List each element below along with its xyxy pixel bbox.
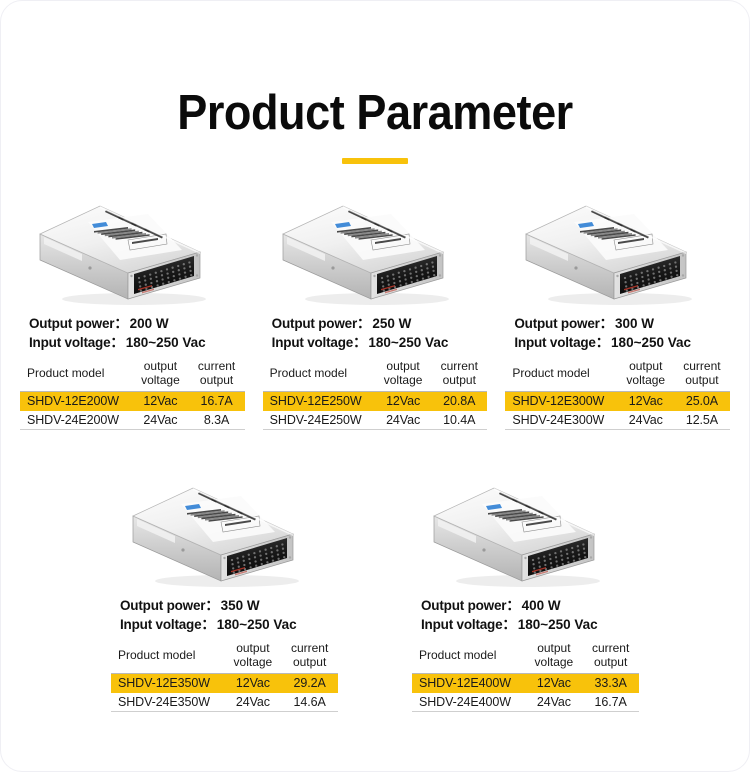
product-card-400w: Output power：400 W Input voltage：180~250… [403,468,648,712]
cell-output-voltage: 12Vac [132,392,188,411]
parameter-table: Product model output voltage current out… [111,637,338,712]
header-output-voltage: output voltage [132,355,188,392]
page-header: Product Parameter [1,1,749,164]
header-product-model: Product model [263,355,375,392]
cell-current-output: 25.0A [674,392,730,411]
product-row-top: Output power：200 W Input voltage：180~250… [1,186,749,430]
cell-product-model: SHDV-24E250W [263,411,375,430]
cell-current-output: 10.4A [431,411,487,430]
header-current-output-line1: current [674,359,730,373]
spec-input-voltage-label: Input voltage： [120,617,215,632]
header-current-output-line2: output [189,373,245,387]
spec-input-voltage: Input voltage：180~250 Vac [505,333,730,352]
header-current-output-line2: output [431,373,487,387]
header-current-output-line1: current [189,359,245,373]
spec-input-voltage-value: 180~250 Vac [611,335,691,350]
table-header-row: Product model output voltage current out… [20,355,245,392]
spec-input-voltage-value: 180~250 Vac [518,617,598,632]
header-output-voltage-line1: output [225,641,282,655]
power-supply-unit-300w [505,186,730,308]
spec-input-voltage-label: Input voltage： [514,335,609,350]
spec-input-voltage: Input voltage：180~250 Vac [20,333,245,352]
header-current-output-line2: output [674,373,730,387]
header-output-voltage: output voltage [618,355,674,392]
header-output-voltage-line1: output [132,359,188,373]
power-supply-unit-250w [263,186,488,308]
cell-current-output: 29.2A [281,674,338,693]
table-row: SHDV-12E350W12Vac29.2A [111,674,338,693]
spec-output-power-value: 200 W [130,316,169,331]
header-current-output-line2: output [582,655,639,669]
power-supply-unit-icon [125,472,325,590]
header-current-output: current output [674,355,730,392]
spec-output-power-value: 300 W [615,316,654,331]
table-body: SHDV-12E200W12Vac16.7ASHDV-24E200W24Vac8… [20,392,245,430]
spec-input-voltage: Input voltage：180~250 Vac [263,333,488,352]
header-output-voltage-line1: output [618,359,674,373]
cell-output-voltage: 12Vac [375,392,431,411]
table-row: SHDV-24E200W24Vac8.3A [20,411,245,430]
spec-output-power-value: 250 W [372,316,411,331]
power-supply-unit-icon [32,190,232,308]
header-output-voltage-line2: voltage [132,373,188,387]
header-current-output-line1: current [431,359,487,373]
cell-output-voltage: 24Vac [526,693,583,712]
power-supply-unit-icon [518,190,718,308]
product-card-250w: Output power：250 W Input voltage：180~250… [254,186,497,430]
spec-output-power: Output power：350 W [111,596,338,615]
table-header-row: Product model output voltage current out… [412,637,639,674]
cell-current-output: 12.5A [674,411,730,430]
table-body: SHDV-12E250W12Vac20.8ASHDV-24E250W24Vac1… [263,392,488,430]
title-underline-rule [342,158,408,164]
spec-output-power-value: 350 W [221,598,260,613]
parameter-table: Product model output voltage current out… [263,355,488,430]
cell-output-voltage: 24Vac [132,411,188,430]
power-supply-unit-350w [111,468,338,590]
header-current-output: current output [582,637,639,674]
spec-input-voltage-label: Input voltage： [29,335,124,350]
header-output-voltage-line2: voltage [526,655,583,669]
cell-output-voltage: 12Vac [526,674,583,693]
product-card-350w: Output power：350 W Input voltage：180~250… [102,468,347,712]
header-current-output-line2: output [281,655,338,669]
table-header-row: Product model output voltage current out… [111,637,338,674]
header-output-voltage-line2: voltage [375,373,431,387]
table-row: SHDV-24E350W24Vac14.6A [111,693,338,712]
spec-input-voltage: Input voltage：180~250 Vac [111,615,338,634]
product-parameter-page: Product Parameter Output power：200 W Inp… [0,0,750,772]
cell-product-model: SHDV-24E400W [412,693,526,712]
parameter-table: Product model output voltage current out… [20,355,245,430]
table-row: SHDV-12E250W12Vac20.8A [263,392,488,411]
cell-current-output: 33.3A [582,674,639,693]
cell-product-model: SHDV-12E350W [111,674,225,693]
cell-output-voltage: 12Vac [225,674,282,693]
power-supply-unit-icon [275,190,475,308]
header-output-voltage: output voltage [526,637,583,674]
cell-product-model: SHDV-24E350W [111,693,225,712]
cell-product-model: SHDV-12E250W [263,392,375,411]
power-supply-unit-icon [426,472,626,590]
psu-render [125,472,325,590]
table-body: SHDV-12E300W12Vac25.0ASHDV-24E300W24Vac1… [505,392,730,430]
table-body: SHDV-12E350W12Vac29.2ASHDV-24E350W24Vac1… [111,674,338,712]
header-product-model: Product model [111,637,225,674]
parameter-table: Product model output voltage current out… [505,355,730,430]
spec-input-voltage-value: 180~250 Vac [217,617,297,632]
spec-input-voltage-value: 180~250 Vac [368,335,448,350]
header-current-output-line1: current [582,641,639,655]
cell-output-voltage: 24Vac [375,411,431,430]
power-supply-unit-400w [412,468,639,590]
cell-product-model: SHDV-24E300W [505,411,617,430]
product-row-bottom: Output power：350 W Input voltage：180~250… [1,468,749,712]
page-title: Product Parameter [31,85,719,141]
spec-input-voltage-label: Input voltage： [272,335,367,350]
spec-output-power-label: Output power： [29,316,128,331]
cell-product-model: SHDV-12E400W [412,674,526,693]
power-supply-unit-200w [20,186,245,308]
cell-current-output: 16.7A [582,693,639,712]
table-row: SHDV-24E250W24Vac10.4A [263,411,488,430]
header-current-output: current output [189,355,245,392]
header-product-model: Product model [505,355,617,392]
header-current-output: current output [281,637,338,674]
cell-current-output: 14.6A [281,693,338,712]
table-row: SHDV-12E400W12Vac33.3A [412,674,639,693]
spec-output-power-label: Output power： [421,598,520,613]
spec-output-power: Output power：400 W [412,596,639,615]
cell-product-model: SHDV-24E200W [20,411,132,430]
parameter-table: Product model output voltage current out… [412,637,639,712]
spec-output-power-label: Output power： [514,316,613,331]
table-row: SHDV-24E300W24Vac12.5A [505,411,730,430]
header-output-voltage-line2: voltage [618,373,674,387]
header-current-output-line1: current [281,641,338,655]
product-card-200w: Output power：200 W Input voltage：180~250… [11,186,254,430]
cell-product-model: SHDV-12E200W [20,392,132,411]
cell-output-voltage: 24Vac [618,411,674,430]
cell-product-model: SHDV-12E300W [505,392,617,411]
spec-input-voltage-value: 180~250 Vac [126,335,206,350]
header-product-model: Product model [412,637,526,674]
header-current-output: current output [431,355,487,392]
spec-output-power-label: Output power： [272,316,371,331]
table-row: SHDV-12E200W12Vac16.7A [20,392,245,411]
spec-input-voltage-label: Input voltage： [421,617,516,632]
cell-current-output: 20.8A [431,392,487,411]
spec-output-power: Output power：250 W [263,314,488,333]
spec-output-power-label: Output power： [120,598,219,613]
table-row: SHDV-12E300W12Vac25.0A [505,392,730,411]
table-row: SHDV-24E400W24Vac16.7A [412,693,639,712]
header-output-voltage-line1: output [526,641,583,655]
cell-current-output: 16.7A [189,392,245,411]
spec-output-power-value: 400 W [522,598,561,613]
psu-render [275,190,475,308]
psu-render [426,472,626,590]
cell-output-voltage: 24Vac [225,693,282,712]
header-output-voltage-line2: voltage [225,655,282,669]
product-card-300w: Output power：300 W Input voltage：180~250… [496,186,739,430]
header-output-voltage-line1: output [375,359,431,373]
spec-output-power: Output power：300 W [505,314,730,333]
header-output-voltage: output voltage [375,355,431,392]
table-header-row: Product model output voltage current out… [505,355,730,392]
cell-output-voltage: 12Vac [618,392,674,411]
psu-render [518,190,718,308]
header-product-model: Product model [20,355,132,392]
spec-input-voltage: Input voltage：180~250 Vac [412,615,639,634]
header-output-voltage: output voltage [225,637,282,674]
table-body: SHDV-12E400W12Vac33.3ASHDV-24E400W24Vac1… [412,674,639,712]
table-header-row: Product model output voltage current out… [263,355,488,392]
psu-render [32,190,232,308]
spec-output-power: Output power：200 W [20,314,245,333]
cell-current-output: 8.3A [189,411,245,430]
